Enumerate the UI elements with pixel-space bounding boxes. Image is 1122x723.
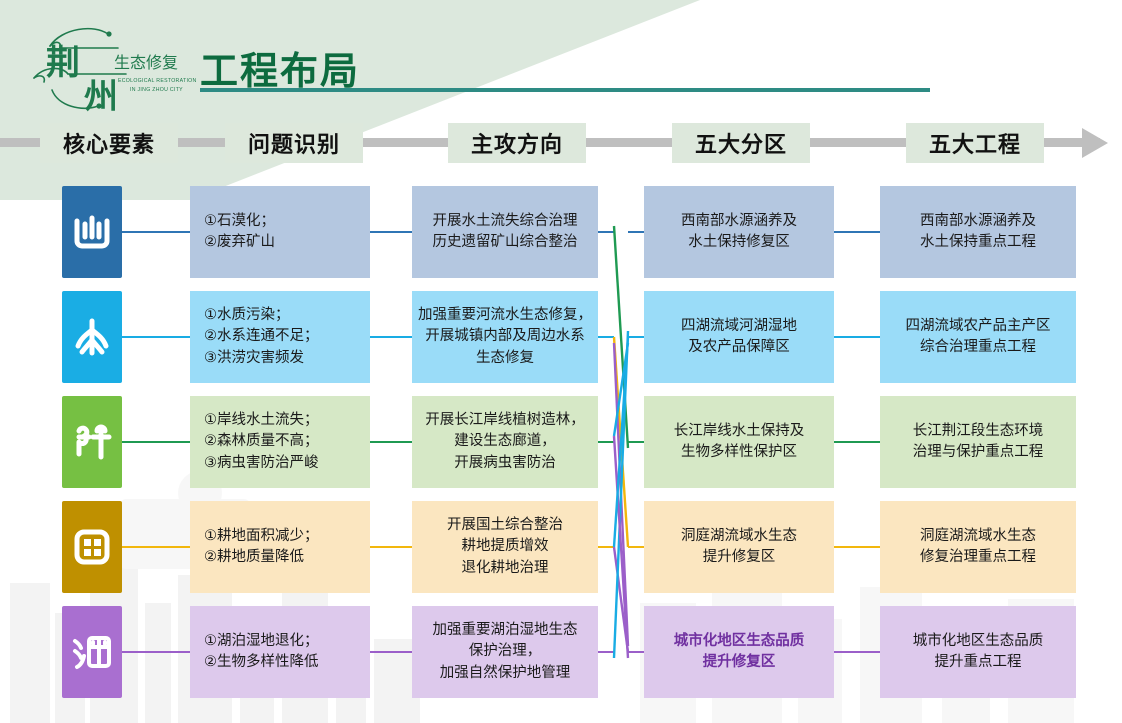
project-card-0-text: 西南部水源涵养及 水土保持重点工程 — [920, 211, 1036, 253]
stage-chip-label: 问题识别 — [248, 127, 340, 159]
project-card-4[interactable]: 城市化地区生态品质 提升重点工程 — [880, 606, 1076, 698]
link-direction-stub-4 — [598, 651, 614, 653]
stage-arrow-icon — [1082, 128, 1108, 158]
link-problem-to-direction-2 — [370, 441, 412, 443]
direction-card-3[interactable]: 开展国土综合整治 耕地提质增效 退化耕地治理 — [412, 501, 598, 593]
problem-card-3-text: ①耕地面积减少； ②耕地质量降低 — [204, 526, 319, 568]
crosslink-2-to-1 — [614, 343, 628, 436]
stage-chip-label: 五大工程 — [929, 127, 1021, 159]
project-card-4-text: 城市化地区生态品质 提升重点工程 — [913, 631, 1044, 673]
page-title: 工程布局 — [200, 40, 360, 95]
link-zone-to-project-2 — [834, 441, 880, 443]
problem-card-0-text: ①石漠化； ②废弃矿山 — [204, 211, 275, 253]
link-direction-stub-3 — [598, 546, 614, 548]
title-underline — [200, 88, 930, 92]
problem-card-0[interactable]: ①石漠化； ②废弃矿山 — [190, 186, 370, 278]
jingzhou-eco-logo: 荆 州 生态修复 ECOLOGICAL RESTORATION IN JING … — [22, 16, 212, 120]
zone-card-1[interactable]: 四湖流域河湖湿地 及农产品保障区 — [644, 291, 834, 383]
problem-card-3[interactable]: ①耕地面积减少； ②耕地质量降低 — [190, 501, 370, 593]
project-card-1[interactable]: 四湖流域农产品主产区 综合治理重点工程 — [880, 291, 1076, 383]
problem-card-4[interactable]: ①湖泊湿地退化； ②生物多样性降低 — [190, 606, 370, 698]
farmland-icon[interactable] — [62, 501, 122, 593]
link-zone-stub-2 — [628, 441, 644, 443]
link-direction-stub-1 — [598, 336, 614, 338]
direction-card-1-text: 加强重要河流水生态修复， 开展城镇内部及周边水系 生态修复 — [418, 305, 592, 368]
project-card-2[interactable]: 长江荆江段生态环境 治理与保护重点工程 — [880, 396, 1076, 488]
direction-card-1[interactable]: 加强重要河流水生态修复， 开展城镇内部及周边水系 生态修复 — [412, 291, 598, 383]
logo-char-zhou: 州 — [84, 77, 118, 117]
link-icon-to-problem-2 — [122, 441, 190, 443]
direction-card-4-text: 加强重要湖泊湿地生态 保护治理， 加强自然保护地管理 — [433, 620, 578, 683]
link-zone-to-project-1 — [834, 336, 880, 338]
problem-card-4-text: ①湖泊湿地退化； ②生物多样性降低 — [204, 631, 319, 673]
project-card-3-text: 洞庭湖流域水生态 修复治理重点工程 — [920, 526, 1036, 568]
logo-char-jing: 荆 — [46, 43, 80, 83]
direction-card-0[interactable]: 开展水土流失综合治理 历史遗留矿山综合整治 — [412, 186, 598, 278]
zone-card-4-text: 城市化地区生态品质 提升修复区 — [674, 631, 805, 673]
problem-card-2-text: ①岸线水土流失； ②森林质量不高； ③病虫害防治严峻 — [204, 410, 319, 473]
zone-card-4[interactable]: 城市化地区生态品质 提升修复区 — [644, 606, 834, 698]
project-card-1-text: 四湖流域农产品主产区 综合治理重点工程 — [906, 316, 1051, 358]
stage-chip-3[interactable]: 五大分区 — [672, 123, 810, 163]
link-icon-to-problem-0 — [122, 231, 190, 233]
crosslink-0-to-2 — [614, 226, 628, 448]
link-icon-to-problem-1 — [122, 336, 190, 338]
lake-icon[interactable] — [62, 606, 122, 698]
link-zone-to-project-3 — [834, 546, 880, 548]
zone-card-0-text: 西南部水源涵养及 水土保持修复区 — [681, 211, 797, 253]
zone-card-0[interactable]: 西南部水源涵养及 水土保持修复区 — [644, 186, 834, 278]
logo-en-line2: IN JING ZHOU CITY — [130, 87, 183, 93]
link-problem-to-direction-0 — [370, 231, 412, 233]
slide-root: { "header": { "title": "工程布局", "logo": {… — [0, 0, 1122, 723]
direction-card-2-text: 开展长江岸线植树造林， 建设生态廊道， 开展病虫害防治 — [425, 410, 585, 473]
stage-chip-2[interactable]: 主攻方向 — [448, 123, 586, 163]
forest-icon[interactable] — [62, 396, 122, 488]
logo-subtitle-cn: 生态修复 — [114, 53, 178, 72]
crosslink-1-to-3 — [614, 337, 628, 547]
link-zone-stub-1 — [628, 336, 644, 338]
stage-chip-4[interactable]: 五大工程 — [906, 123, 1044, 163]
link-problem-to-direction-4 — [370, 651, 412, 653]
link-icon-to-problem-4 — [122, 651, 190, 653]
project-card-2-text: 长江荆江段生态环境 治理与保护重点工程 — [913, 421, 1044, 463]
problem-card-1[interactable]: ①水质污染； ②水系连通不足； ③洪涝灾害频发 — [190, 291, 370, 383]
direction-card-0-text: 开展水土流失综合治理 历史遗留矿山综合整治 — [433, 211, 578, 253]
water-icon[interactable] — [62, 291, 122, 383]
problem-card-2[interactable]: ①岸线水土流失； ②森林质量不高； ③病虫害防治严峻 — [190, 396, 370, 488]
logo-en-line1: ECOLOGICAL RESTORATION — [118, 78, 197, 84]
link-zone-stub-3 — [628, 546, 644, 548]
mountain-icon[interactable] — [62, 186, 122, 278]
stage-chip-label: 核心要素 — [63, 127, 155, 159]
project-card-0[interactable]: 西南部水源涵养及 水土保持重点工程 — [880, 186, 1076, 278]
link-icon-to-problem-3 — [122, 546, 190, 548]
direction-card-4[interactable]: 加强重要湖泊湿地生态 保护治理， 加强自然保护地管理 — [412, 606, 598, 698]
link-direction-stub-0 — [598, 231, 614, 233]
link-zone-stub-0 — [628, 231, 644, 233]
zone-card-3[interactable]: 洞庭湖流域水生态 提升修复区 — [644, 501, 834, 593]
problem-card-1-text: ①水质污染； ②水系连通不足； ③洪涝灾害频发 — [204, 305, 319, 368]
link-direction-stub-2 — [598, 441, 614, 443]
project-card-3[interactable]: 洞庭湖流域水生态 修复治理重点工程 — [880, 501, 1076, 593]
link-zone-stub-4 — [628, 651, 644, 653]
stage-chip-0[interactable]: 核心要素 — [40, 123, 178, 163]
link-zone-to-project-0 — [834, 231, 880, 233]
zone-card-3-text: 洞庭湖流域水生态 提升修复区 — [681, 526, 797, 568]
stage-chip-label: 五大分区 — [695, 127, 787, 159]
crosslink-3-to-1 — [614, 337, 628, 547]
link-zone-to-project-4 — [834, 651, 880, 653]
direction-card-2[interactable]: 开展长江岸线植树造林， 建设生态廊道， 开展病虫害防治 — [412, 396, 598, 488]
zone-card-1-text: 四湖流域河湖湿地 及农产品保障区 — [681, 316, 797, 358]
zone-card-2-text: 长江岸线水土保持及 生物多样性保护区 — [674, 421, 805, 463]
zone-card-2[interactable]: 长江岸线水土保持及 生物多样性保护区 — [644, 396, 834, 488]
stage-chip-1[interactable]: 问题识别 — [225, 123, 363, 163]
link-problem-to-direction-3 — [370, 546, 412, 548]
link-problem-to-direction-1 — [370, 336, 412, 338]
direction-card-3-text: 开展国土综合整治 耕地提质增效 退化耕地治理 — [447, 515, 563, 578]
stage-chip-label: 主攻方向 — [471, 127, 563, 159]
